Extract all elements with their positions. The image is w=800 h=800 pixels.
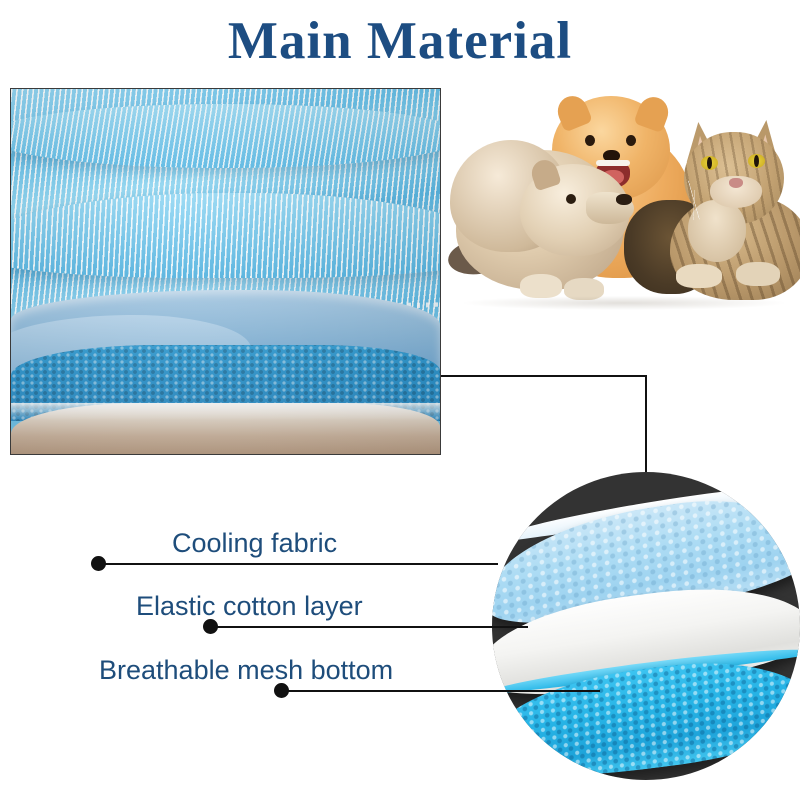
callout-dot-breathable-mesh-bottom <box>274 683 289 698</box>
photo-to-diagram-connector-horizontal <box>441 375 646 377</box>
orange-pomeranian-eye-left <box>585 135 595 146</box>
callout-line-cooling-fabric <box>98 563 498 565</box>
tabby-cat-paw-left <box>676 264 722 288</box>
callout-label-cooling-fabric: Cooling fabric <box>172 528 337 558</box>
callout-line-breathable-mesh-bottom <box>281 690 600 692</box>
callout-label-elastic-cotton-layer: Elastic cotton layer <box>136 591 363 621</box>
infographic-root: Main Material <box>0 0 800 800</box>
cream-pomeranian-nose <box>616 194 632 205</box>
tabby-cat-eye-left <box>701 156 718 170</box>
callout-dot-cooling-fabric <box>91 556 106 571</box>
page-title: Main Material <box>0 12 800 70</box>
orange-pomeranian-eye-right <box>626 135 636 146</box>
tabby-cat-paw-right <box>736 262 780 286</box>
callout-label-breathable-mesh-bottom: Breathable mesh bottom <box>99 655 393 685</box>
pets-ground-shadow <box>464 296 784 310</box>
pets-photo <box>448 88 800 312</box>
cream-pomeranian-eye <box>566 194 576 204</box>
tabby-cat-nose <box>729 178 743 188</box>
tabby-cat-eye-right <box>748 154 765 168</box>
photo-to-diagram-connector-vertical <box>645 375 647 474</box>
cream-pomeranian-paw-left <box>520 274 562 298</box>
three-layer-exploded-diagram <box>492 472 800 780</box>
callout-line-elastic-cotton-layer <box>210 626 528 628</box>
fabric-photo-vignette <box>11 89 440 454</box>
orange-pomeranian-teeth <box>596 160 630 166</box>
callout-dot-elastic-cotton-layer <box>203 619 218 634</box>
fabric-cross-section-photo <box>10 88 441 455</box>
